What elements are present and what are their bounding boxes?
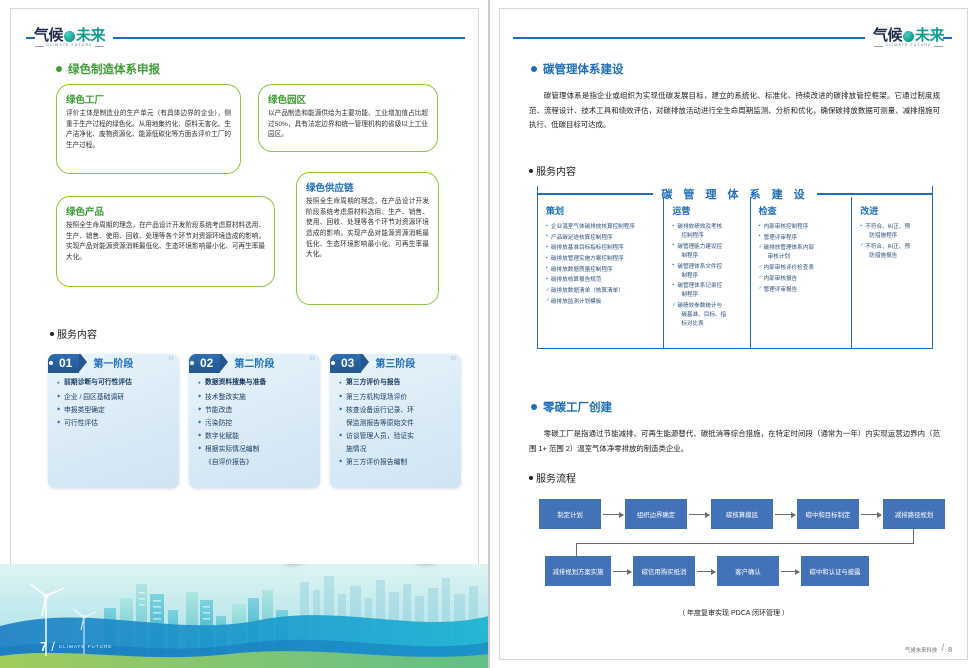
list-item: 碳排放数据质量控制程序: [546, 266, 657, 275]
list-item: 前期诊断与可行性评估: [57, 378, 173, 389]
list-item: 碳管理体系文件控: [672, 263, 743, 272]
list-item: 制程序: [672, 252, 743, 261]
brand-tagline-wrap: CLIMATE FUTURE: [874, 44, 942, 48]
table-column-operations: 运营 碳排放绩效及考核 控制程序 碳管理能力建设控 制程序 碳管理体系文件控 制…: [663, 197, 749, 348]
list-item: 保监测报告等原始文件: [339, 419, 455, 430]
phase-label: 第一阶段: [93, 355, 133, 370]
title-corner-left: [537, 186, 538, 197]
title-rule-right: [817, 193, 933, 194]
process-arrow: [603, 514, 623, 515]
list-item: 第三方评价与报告: [339, 378, 455, 389]
right-section1-body: 碳管理体系是指企业或组织为实现低碳发展目标，建立的系统化、标准化、持续改进的碳排…: [529, 89, 940, 132]
process-heading-text: 服务流程: [536, 470, 576, 485]
phase-item-list: 第三方评价与报告 第三方机构现场评价 核查设备运行记录、环 保监测报告等原始文件…: [330, 378, 461, 468]
list-item: 审核计划: [759, 253, 846, 262]
list-item: 防措施程序: [860, 232, 926, 241]
list-item: 内部审核评价检查表: [759, 264, 846, 273]
card-title: 绿色供应链: [306, 180, 429, 194]
list-item: 第三方评价报告编制: [339, 458, 455, 469]
list-item: 访谈管理人员，验证实: [339, 432, 455, 443]
header-rule-left-tip: [26, 37, 35, 39]
phase-number: 01: [48, 354, 79, 373]
process-arrow: [861, 514, 881, 515]
brand-name-part2: 未来: [76, 28, 105, 43]
card-title: 绿色产品: [66, 204, 265, 218]
brand-logo-wordmark: 气候 未来: [873, 28, 944, 43]
list-item: 数据资料搜集与准备: [198, 378, 314, 389]
phase-item-list: 数据资料搜集与准备 技术整改实施 节能改造 污染防控 数字化赋能 根据实际情况编…: [189, 378, 320, 468]
flow-step-3: 现场 抽查 03: [325, 564, 397, 569]
brand-logo: 气候 未来 CLIMATE FUTURE: [34, 28, 105, 48]
column-header: 运营: [672, 204, 743, 217]
card-body: 评价主体是制造业的生产单元（有具体边界的企业），侧重于生产过程的绿色化。从用地集…: [66, 109, 231, 152]
right-page: 气候 未来 CLIMATE FUTURE 碳管理体系建设 碳管理体系是指企业或组…: [489, 0, 978, 668]
process-arrow: [689, 514, 709, 515]
footer-caption: CLIMATE FUTURE: [59, 644, 112, 649]
phase-number: 02: [189, 354, 220, 373]
card-green-park: 绿色园区 以产品制造和能源供给为主要功能、工业增加值占比超过50%，具有法定边界…: [258, 84, 438, 152]
phase-corner-number: 01: [168, 356, 174, 362]
list-item: 技术整改实施: [198, 393, 314, 404]
spread-gutter: [488, 0, 490, 668]
list-item: 碳排放绩效及考核: [672, 223, 743, 232]
bullet-dot-icon: [529, 476, 533, 480]
globe-icon: [64, 31, 75, 42]
right-section2-title-text: 零碳工厂创建: [543, 399, 612, 415]
flow-step-1: 形式 审查 01: [193, 564, 265, 569]
list-item: 碳排放基准目标指标控制程序: [546, 244, 657, 253]
process-box-r1-5: 减排路径规划: [883, 499, 945, 529]
brand-logo-wordmark: 气候 未来: [34, 28, 105, 43]
page-number: 8: [948, 647, 952, 654]
card-body: 以产品制造和能源供给为主要功能、工业增加值占比超过50%，具有法定边界和统一管理…: [268, 109, 428, 141]
column-item-list: 不符合、纠正、预 防措施程序 不符合、纠正、预 防措施报告: [860, 223, 926, 260]
column-header: 策划: [546, 204, 657, 217]
brand-name-part1: 气候: [34, 28, 63, 43]
list-item: 根据实际情况编制: [198, 445, 314, 456]
header-rule: [513, 37, 865, 39]
phase-card-02: 02 第二阶段 02 数据资料搜集与准备 技术整改实施 节能改造 污染防控 数字…: [189, 354, 320, 488]
footer-brand: 气候未来科技: [905, 646, 937, 654]
list-item: 内部审核控制程序: [759, 223, 846, 232]
flow-step-2: 专家 评审 02: [258, 564, 330, 576]
list-item: 产品碳足迹核算控制程序: [546, 234, 657, 243]
bullet-dot-icon: [50, 332, 54, 336]
list-item: 申报类型确定: [57, 406, 173, 417]
column-item-list: 企业温室气体碳排放核算控制程序 产品碳足迹核算控制程序 碳排放基准目标指标控制程…: [546, 223, 657, 306]
list-item: 污染防控: [198, 419, 314, 430]
list-item: 核查设备运行记录、环: [339, 406, 455, 417]
bullet-dot-icon: [531, 404, 537, 410]
bullet-dot-icon: [531, 66, 537, 72]
list-item: 管理评审程序: [759, 234, 846, 243]
process-box-r1-2: 组织边界确定: [625, 499, 687, 529]
left-page-footer: 7 / CLIMATE FUTURE: [40, 639, 112, 654]
list-item: 不符合、纠正、预: [860, 223, 926, 232]
process-connector-h: [576, 543, 914, 544]
card-title: 绿色工厂: [66, 92, 231, 106]
process-connector-v2: [576, 543, 577, 556]
card-green-product: 绿色产品 按照全生命周期的理念，在产品设计开发阶段系统考虑原材料选用、生产、销售…: [56, 196, 275, 287]
left-service-heading-text: 服务内容: [57, 326, 97, 341]
globe-icon: [903, 31, 914, 42]
right-page-header: 气候 未来 CLIMATE FUTURE: [513, 26, 944, 50]
right-page-footer: 气候未来科技 / 8: [905, 643, 952, 654]
left-service-heading: 服务内容: [50, 326, 97, 341]
phase-tag: 02 第二阶段: [189, 354, 274, 373]
phase-tag: 01 第一阶段: [48, 354, 133, 373]
bullet-dot-icon: [56, 66, 62, 72]
list-item: 碳管理能力建设控: [672, 243, 743, 252]
list-item: 碳排放监测计划模板: [546, 298, 657, 307]
carbon-management-table: 策划 企业温室气体碳排放核算控制程序 产品碳足迹核算控制程序 碳排放基准目标指标…: [537, 197, 933, 349]
column-item-list: 内部审核控制程序 管理评审程序 碳排放管理体系内部 审核计划 内部审核评价检查表…: [759, 223, 846, 294]
phase-corner-number: 02: [309, 356, 315, 362]
process-arrow: [775, 514, 795, 515]
phase-tag: 03 第三阶段: [330, 354, 415, 373]
list-item: 防措施报告: [860, 252, 926, 261]
header-rule-right-tip: [943, 37, 952, 39]
process-box-r1-4: 碳中和目标制定: [797, 499, 859, 529]
list-item: 控制程序: [672, 232, 743, 241]
phase-card-01: 01 第一阶段 01 前期诊断与可行性评估 企业 / 园区基础调研 申报类型确定…: [48, 354, 179, 488]
page-number: 7: [40, 639, 47, 654]
process-arrow: [613, 571, 631, 572]
list-item: 数字化赋能: [198, 432, 314, 443]
list-item: 第三方机构现场评价: [339, 393, 455, 404]
list-item: 碳排放数据清单（核算清单）: [546, 287, 657, 296]
card-green-supply-chain: 绿色供应链 按照全生命周期的理念，在产品设计开发阶段系统考虑原材料选用、生产、销…: [296, 172, 439, 305]
list-item: 企业 / 园区基础调研: [57, 393, 173, 404]
process-box-r2-1: 减排规划方案实施: [545, 556, 611, 586]
process-connector-v1: [913, 529, 914, 543]
flow-step-4: 公示 名单 04: [390, 564, 462, 576]
list-item: 碳排放管理实施方案控制程序: [546, 255, 657, 264]
process-box-r2-4: 碳中和认证与披露: [801, 556, 869, 586]
list-item: 碳基准、目标、指: [672, 311, 743, 320]
list-item: 管理评审报告: [759, 286, 846, 295]
card-body: 按照全生命周期的理念，在产品设计开发阶段系统考虑原材料选用、生产、销售、使用、回…: [66, 221, 265, 264]
right-service-heading: 服务内容: [529, 163, 576, 178]
brand-logo: 气候 未来 CLIMATE FUTURE: [873, 28, 944, 48]
phase-card-03: 03 第三阶段 03 第三方评价与报告 第三方机构现场评价 核查设备运行记录、环…: [330, 354, 461, 488]
process-arrow: [697, 571, 715, 572]
list-item: 碳排放管理体系内部: [759, 244, 846, 253]
list-item: 可行性评估: [57, 419, 173, 430]
card-body: 按照全生命周期的理念，在产品设计开发阶段系统考虑原材料选用、生产、销售、使用、回…: [306, 197, 429, 261]
list-item: 制程序: [672, 291, 743, 300]
header-rule: [113, 37, 465, 39]
table-column-improvement: 改进 不符合、纠正、预 防措施程序 不符合、纠正、预 防措施报告: [851, 197, 932, 348]
left-page: 气候 未来 CLIMATE FUTURE 绿色制造体系申报 绿色工厂 评价主体是…: [0, 0, 489, 668]
phase-corner-number: 03: [450, 356, 456, 362]
left-page-artwork: 政府相关部门评审流程 04 第四阶段 04 评审与后续管理 形式 审查: [0, 564, 489, 668]
process-heading: 服务流程: [529, 470, 576, 485]
left-section-title-text: 绿色制造体系申报: [68, 61, 160, 77]
process-box-r2-3: 客户确认: [717, 556, 779, 586]
column-header: 检查: [759, 204, 846, 217]
right-section1-title-text: 碳管理体系建设: [543, 61, 624, 77]
title-rule-left: [537, 193, 653, 194]
brand-name-part2: 未来: [915, 28, 944, 43]
list-item: 《自评价报告》: [198, 458, 314, 469]
list-item: 制程序: [672, 272, 743, 281]
title-corner-right: [932, 186, 933, 197]
list-item: 节能改造: [198, 406, 314, 417]
right-service-heading-text: 服务内容: [536, 163, 576, 178]
list-item: 企业温室气体碳排放核算控制程序: [546, 223, 657, 232]
card-green-factory: 绿色工厂 评价主体是制造业的生产单元（有具体边界的企业），侧重于生产过程的绿色化…: [56, 84, 241, 174]
process-box-r1-3: 碳核算摸底: [711, 499, 773, 529]
right-section2-body: 零碳工厂是指通过节能减排、可再生能源替代、碳抵消等综合措施，在特定时间段（通常为…: [529, 427, 940, 455]
phase-label: 第三阶段: [375, 355, 415, 370]
column-header: 改进: [860, 204, 926, 217]
table-column-inspection: 检查 内部审核控制程序 管理评审程序 碳排放管理体系内部 审核计划 内部审核评价…: [750, 197, 852, 348]
right-section2-title: 零碳工厂创建: [531, 399, 612, 415]
left-page-header: 气候 未来 CLIMATE FUTURE: [34, 26, 465, 50]
list-item: 内部审核报告: [759, 275, 846, 284]
process-box-r2-2: 碳信用购买抵消: [633, 556, 695, 586]
list-item: 碳绩效参数统计与: [672, 302, 743, 311]
list-item: 不符合、纠正、预: [860, 243, 926, 252]
brand-tagline: CLIMATE FUTURE: [46, 44, 92, 48]
document-spread: 气候 未来 CLIMATE FUTURE 绿色制造体系申报 绿色工厂 评价主体是…: [0, 0, 978, 668]
process-box-r1-1: 制定计划: [539, 499, 601, 529]
process-arrow: [781, 571, 799, 572]
right-section1-title: 碳管理体系建设: [531, 61, 624, 77]
phase-item-list: 前期诊断与可行性评估 企业 / 园区基础调研 申报类型确定 可行性评估: [48, 378, 179, 429]
brand-tagline: CLIMATE FUTURE: [885, 44, 931, 48]
bullet-dot-icon: [529, 169, 533, 173]
left-section-title: 绿色制造体系申报: [56, 61, 160, 77]
column-item-list: 碳排放绩效及考核 控制程序 碳管理能力建设控 制程序 碳管理体系文件控 制程序 …: [672, 223, 743, 329]
table-column-planning: 策划 企业温室气体碳排放核算控制程序 产品碳足迹核算控制程序 碳排放基准目标指标…: [538, 197, 663, 348]
list-item: 碳排放核算报告规范: [546, 276, 657, 285]
brand-name-part1: 气候: [873, 28, 902, 43]
phase-number: 03: [330, 354, 361, 373]
card-title: 绿色园区: [268, 92, 428, 106]
list-item: 碳管理体系记录控: [672, 282, 743, 291]
phase-label: 第二阶段: [234, 355, 274, 370]
list-item: 施情况: [339, 445, 455, 456]
footer-separator: /: [941, 643, 944, 654]
process-caption: （ 年度复审实现 PDCA 闭环管理 ）: [489, 608, 978, 618]
list-item: 标对比表: [672, 320, 743, 329]
brand-tagline-wrap: CLIMATE FUTURE: [35, 44, 103, 48]
